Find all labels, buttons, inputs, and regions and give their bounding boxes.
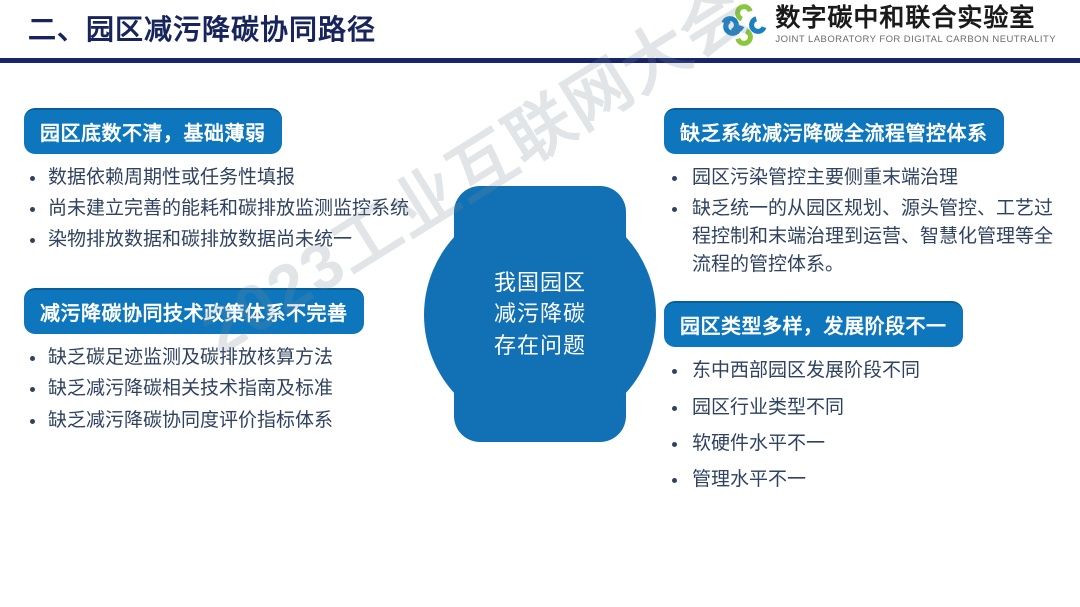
left-block-2-bullets: 缺乏碳足迹监测及碳排放核算方法 缺乏减污降碳相关技术指南及标准 缺乏减污降碳协同… (24, 344, 424, 434)
list-item: 园区污染管控主要侧重末端治理 (664, 164, 1058, 192)
brand-name-cn: 数字碳中和联合实验室 (775, 6, 1035, 31)
list-item: 东中西部园区发展阶段不同 (664, 357, 1058, 385)
left-block-2-header: 减污降碳协同技术政策体系不完善 (24, 288, 364, 334)
badge-line-1: 我国园区 (494, 267, 586, 298)
brand-name-en: JOINT LABORATORY FOR DIGITAL CARBON NEUT… (775, 35, 1056, 45)
list-item: 缺乏减污降碳协同度评价指标体系 (24, 407, 424, 435)
badge-label: 我国园区 减污降碳 存在问题 (424, 186, 656, 442)
badge-line-2: 减污降碳 (494, 298, 586, 329)
right-column: 缺乏系统减污降碳全流程管控体系 园区污染管控主要侧重末端治理 缺乏统一的从园区规… (664, 108, 1058, 516)
left-block-1-header: 园区底数不清，基础薄弱 (24, 108, 282, 154)
right-block-2: 园区类型多样，发展阶段不一 东中西部园区发展阶段不同 园区行业类型不同 软硬件水… (664, 301, 1058, 493)
right-block-2-bullets: 东中西部园区发展阶段不同 园区行业类型不同 软硬件水平不一 管理水平不一 (664, 357, 1058, 493)
right-block-1-header: 缺乏系统减污降碳全流程管控体系 (664, 108, 1004, 154)
right-block-2-header: 园区类型多样，发展阶段不一 (664, 301, 963, 347)
left-block-2: 减污降碳协同技术政策体系不完善 缺乏碳足迹监测及碳排放核算方法 缺乏减污降碳相关… (24, 288, 424, 434)
list-item: 软硬件水平不一 (664, 430, 1058, 458)
slide-header: 二、园区减污降碳协同路径 数字碳中和联合实验室 JOINT LABORATORY… (0, 0, 1080, 62)
header-divider (0, 58, 1080, 63)
page-title: 二、园区减污降碳协同路径 (28, 8, 376, 48)
list-item: 缺乏碳足迹监测及碳排放核算方法 (24, 344, 424, 372)
left-block-1-bullets: 数据依赖周期性或任务性填报 尚未建立完善的能耗和碳排放监测监控系统 染物排放数据… (24, 164, 424, 254)
badge-line-3: 存在问题 (494, 330, 586, 361)
right-block-1: 缺乏系统减污降碳全流程管控体系 园区污染管控主要侧重末端治理 缺乏统一的从园区规… (664, 108, 1058, 279)
brand-text: 数字碳中和联合实验室 JOINT LABORATORY FOR DIGITAL … (775, 6, 1056, 45)
list-item: 缺乏减污降碳相关技术指南及标准 (24, 375, 424, 403)
list-item: 缺乏统一的从园区规划、源头管控、工艺过程控制和末端治理到运营、智慧化管理等全流程… (664, 195, 1058, 279)
center-badge: 我国园区 减污降碳 存在问题 (424, 186, 656, 442)
joint-laboratory-logo-icon (721, 4, 767, 46)
brand-lockup: 数字碳中和联合实验室 JOINT LABORATORY FOR DIGITAL … (721, 4, 1056, 46)
list-item: 数据依赖周期性或任务性填报 (24, 164, 424, 192)
list-item: 尚未建立完善的能耗和碳排放监测监控系统 (24, 195, 424, 223)
right-block-1-bullets: 园区污染管控主要侧重末端治理 缺乏统一的从园区规划、源头管控、工艺过程控制和末端… (664, 164, 1058, 279)
list-item: 园区行业类型不同 (664, 394, 1058, 422)
left-column: 园区底数不清，基础薄弱 数据依赖周期性或任务性填报 尚未建立完善的能耗和碳排放监… (24, 108, 424, 457)
list-item: 管理水平不一 (664, 466, 1058, 494)
left-block-1: 园区底数不清，基础薄弱 数据依赖周期性或任务性填报 尚未建立完善的能耗和碳排放监… (24, 108, 424, 254)
list-item: 染物排放数据和碳排放数据尚未统一 (24, 226, 424, 254)
